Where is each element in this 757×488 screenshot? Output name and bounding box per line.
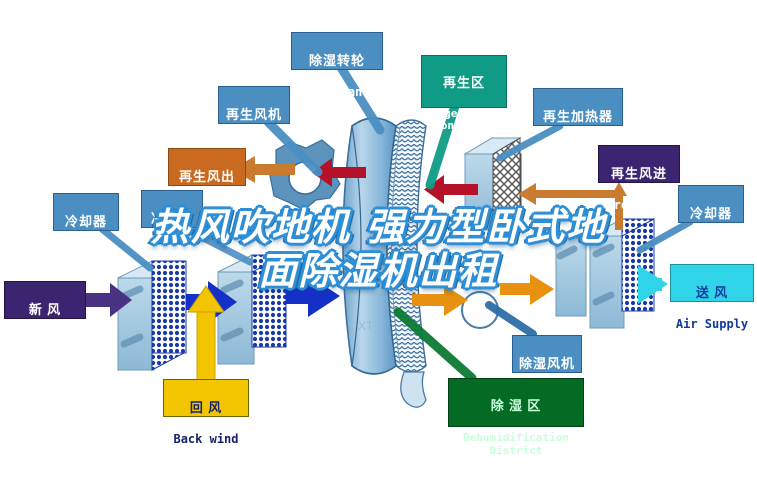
supply-duct-box <box>556 222 586 316</box>
cooler-unit-left <box>118 261 186 370</box>
regen-air-arrow <box>518 183 618 205</box>
desiccant-rotor-wheel: XT <box>343 118 426 407</box>
blower-out-arrow <box>500 274 554 305</box>
dehumidifier-diagram: XT <box>0 0 757 488</box>
svg-text:XT: XT <box>358 319 374 333</box>
process-arrow-2 <box>286 275 340 317</box>
diagram-artwork: XT <box>0 0 757 488</box>
cooler-unit-mid <box>218 255 286 364</box>
